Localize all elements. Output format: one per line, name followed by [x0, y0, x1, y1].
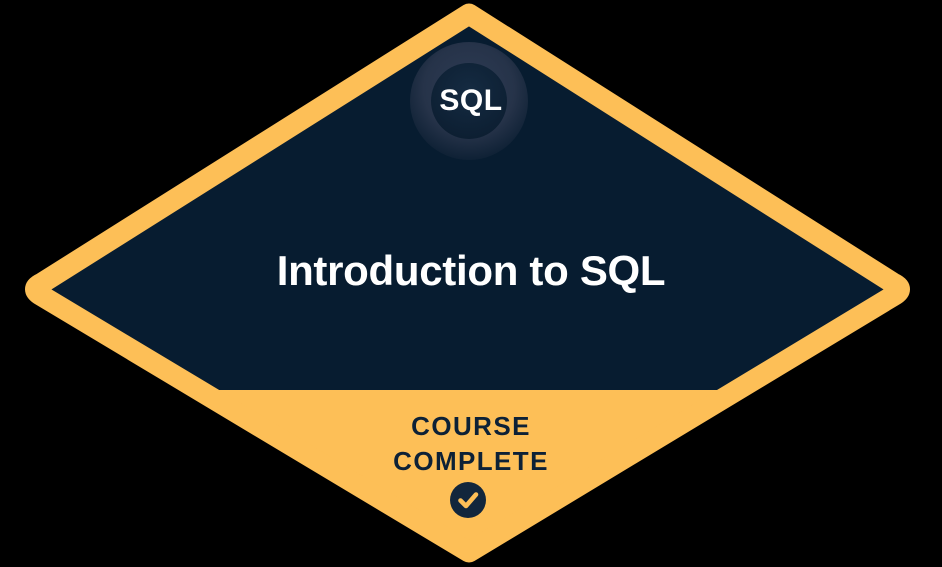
badge-diamond-graphic: [0, 0, 942, 567]
skill-badge-ring: [410, 42, 528, 160]
check-circle-background: [450, 482, 486, 518]
skill-ring-inner: [431, 63, 507, 139]
check-circle-icon: [450, 482, 486, 518]
course-completion-badge[interactable]: SQL Introduction to SQL COURSE COMPLETE: [0, 0, 942, 567]
